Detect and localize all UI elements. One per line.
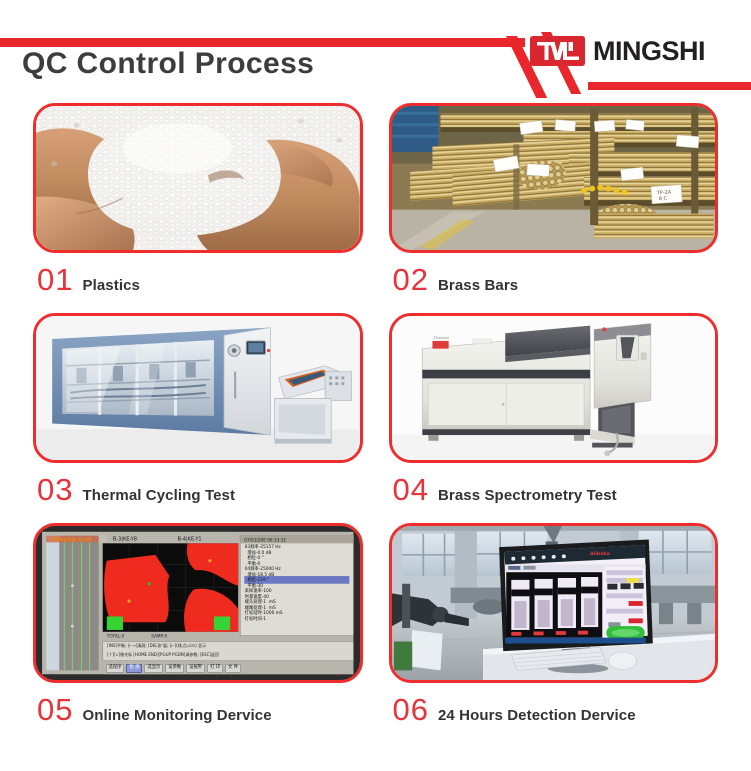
- svg-text:Alibaba: Alibaba: [590, 551, 610, 557]
- brass-bars-photo: TP-2A 8 C: [392, 106, 716, 250]
- card-caption: 02 Brass Bars: [389, 264, 719, 295]
- card-number: 02: [393, 264, 429, 295]
- monitor-params: 03频率-25157 Hz 增益-0.0 dB 相位-0 ° 平衡-0 04频率…: [245, 545, 283, 622]
- monitor-button-set-params[interactable]: 设参数: [165, 664, 184, 673]
- card-caption: 03 Thermal Cycling Test: [33, 474, 363, 505]
- monitoring-screen-photo: Alibaba.com: [36, 526, 360, 680]
- monitor-button-detect[interactable]: 检 测: [126, 664, 142, 673]
- process-card-01: 01 Plastics: [33, 103, 376, 313]
- svg-text:SAMP:0: SAMP:0: [151, 634, 167, 639]
- plastics-photo: [36, 106, 360, 250]
- monitor-button-select-display[interactable]: 选显示: [144, 664, 163, 673]
- detection-workstation-photo: Alibaba: [392, 526, 716, 680]
- card-caption: 06 24 Hours Detection Dervice: [389, 694, 719, 725]
- process-card-03: 03 Thermal Cycling Test: [33, 313, 376, 523]
- card-label: Plastics: [82, 278, 140, 293]
- svg-text:TOTAL:0: TOTAL:0: [106, 634, 125, 639]
- qc-control-process-page: QC Control Process MINGSHI: [0, 0, 751, 771]
- page-title: QC Control Process: [22, 47, 314, 81]
- brand-logo: MINGSHI: [530, 36, 705, 66]
- monitor-button-file[interactable]: 文 件: [225, 664, 241, 673]
- process-card-04: Thermo: [376, 313, 719, 523]
- process-card-05: Alibaba.com: [33, 523, 376, 745]
- monitor-button-set-alarm[interactable]: 设报警: [186, 664, 205, 673]
- monitor-button-bar[interactable]: 选程序 检 测 选显示 设参数 设报警 打 印 文 件: [106, 664, 241, 673]
- brand-name: MINGSHI: [593, 36, 705, 66]
- monitor-hint-line-1: [INS]平衡; [←→]清屏; [DEL]扩展; [←](线,点,circ) …: [107, 643, 206, 648]
- header-red-bar-left: [0, 38, 525, 47]
- card-image-frame: Alibaba.com: [33, 523, 363, 683]
- card-caption: 04 Brass Spectrometry Test: [389, 474, 719, 505]
- thermal-chamber-photo: [36, 316, 360, 460]
- card-image-frame: Thermo: [389, 313, 719, 463]
- svg-text:07/01/20E 06:33:31: 07/01/20E 06:33:31: [244, 537, 286, 542]
- card-image-frame: [33, 103, 363, 253]
- card-label: Brass Spectrometry Test: [438, 488, 617, 503]
- svg-text:B-4|KE-Y1: B-4|KE-Y1: [178, 537, 202, 543]
- card-label: Thermal Cycling Test: [82, 488, 235, 503]
- card-number: 06: [393, 694, 429, 725]
- card-label: Online Monitoring Dervice: [82, 708, 271, 723]
- spectrometer-photo: Thermo: [392, 316, 716, 460]
- monitor-button-print[interactable]: 打 印: [207, 664, 223, 673]
- page-header: QC Control Process MINGSHI: [0, 0, 751, 103]
- card-caption: 01 Plastics: [33, 264, 363, 295]
- card-number: 04: [393, 474, 429, 505]
- monitor-button-select-program[interactable]: 选程序: [106, 664, 125, 673]
- card-number: 01: [37, 264, 73, 295]
- process-card-06: Alibaba: [376, 523, 719, 745]
- card-caption: 05 Online Monitoring Dervice: [33, 694, 363, 725]
- svg-text:Alibaba.com: Alibaba.com: [50, 537, 92, 543]
- process-card-02: TP-2A 8 C 02 Brass Bars: [376, 103, 719, 313]
- card-image-frame: TP-2A 8 C: [389, 103, 719, 253]
- card-number: 03: [37, 474, 73, 505]
- svg-text:B-3|KE-Y8: B-3|KE-Y8: [113, 537, 137, 543]
- header-red-bar-right: [588, 82, 751, 90]
- card-label: Brass Bars: [438, 278, 518, 293]
- process-card-grid: 01 Plastics: [0, 103, 751, 771]
- mingshi-mark-icon: [530, 36, 585, 66]
- card-label: 24 Hours Detection Dervice: [438, 708, 636, 723]
- card-image-frame: Alibaba: [389, 523, 719, 683]
- svg-text:Thermo: Thermo: [432, 335, 449, 340]
- monitor-hint-line-2: [↑][↓]移光标 [HOME END][PGUP PGDN]调参数; [ESC…: [107, 652, 219, 657]
- svg-text:8 C: 8 C: [658, 196, 667, 202]
- card-number: 05: [37, 694, 73, 725]
- card-image-frame: [33, 313, 363, 463]
